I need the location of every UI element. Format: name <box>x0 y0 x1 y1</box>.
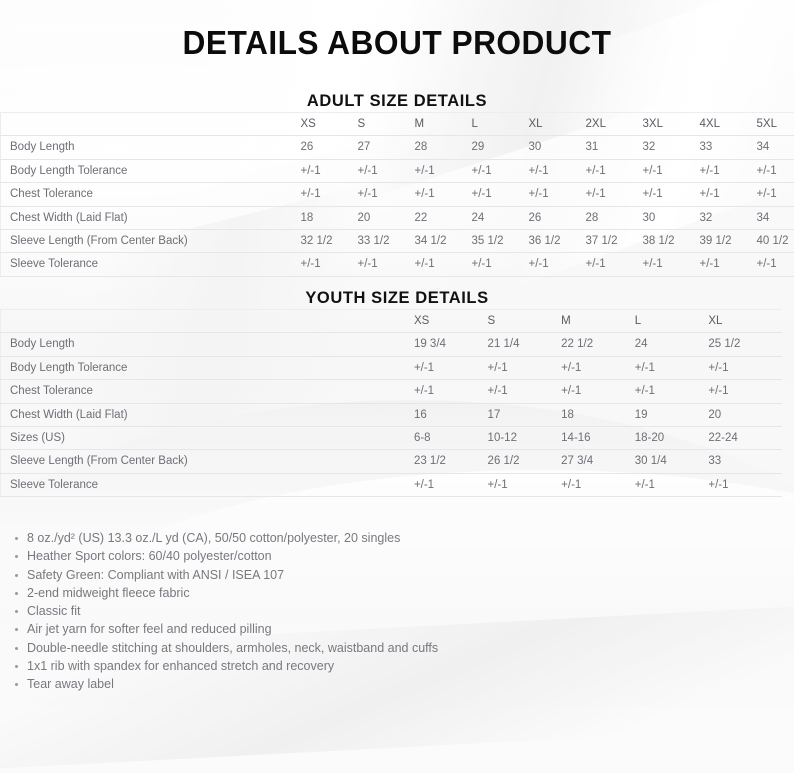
table-cell: 16 <box>414 403 488 426</box>
table-header-row: XSSMLXL2XL3XL4XL5XL <box>1 113 794 136</box>
table-cell: 27 <box>358 136 415 159</box>
row-label: Chest Tolerance <box>1 183 301 206</box>
table-cell: 18 <box>301 206 358 229</box>
column-header-size: 3XL <box>643 113 700 136</box>
table-cell: +/-1 <box>358 159 415 182</box>
table-cell: 24 <box>472 206 529 229</box>
table-row: Chest Tolerance+/-1+/-1+/-1+/-1+/-1+/-1+… <box>1 183 794 206</box>
table-cell: +/-1 <box>488 380 562 403</box>
row-label: Body Length Tolerance <box>1 159 301 182</box>
row-label: Sleeve Length (From Center Back) <box>1 450 414 473</box>
table-cell: 31 <box>586 136 643 159</box>
table-cell: +/-1 <box>757 159 794 182</box>
table-cell: +/-1 <box>301 183 358 206</box>
column-header-size: L <box>635 310 709 333</box>
column-header-size: M <box>561 310 635 333</box>
table-cell: +/-1 <box>643 159 700 182</box>
table-cell: 17 <box>488 403 562 426</box>
table-cell: 26 <box>529 206 586 229</box>
table-cell: +/-1 <box>414 356 488 379</box>
table-cell: 23 1/2 <box>414 450 488 473</box>
table-cell: 30 1/4 <box>635 450 709 473</box>
table-cell: 22 1/2 <box>561 333 635 356</box>
table-cell: +/-1 <box>757 183 794 206</box>
table-cell: 40 1/2 <box>757 230 794 253</box>
table-cell: +/-1 <box>561 356 635 379</box>
table-cell: 14-16 <box>561 427 635 450</box>
table-cell: +/-1 <box>561 473 635 496</box>
table-cell: +/-1 <box>635 356 709 379</box>
column-header-size: 5XL <box>757 113 794 136</box>
row-label: Chest Width (Laid Flat) <box>1 206 301 229</box>
feature-list-item: Air jet yarn for softer feel and reduced… <box>13 620 438 638</box>
table-cell: 33 <box>700 136 757 159</box>
feature-list-item: 8 oz./yd² (US) 13.3 oz./L yd (CA), 50/50… <box>13 529 438 547</box>
feature-list-item: Safety Green: Compliant with ANSI / ISEA… <box>13 566 438 584</box>
table-row: Sizes (US)6-810-1214-1618-2022-24 <box>1 427 783 450</box>
table-cell: +/-1 <box>301 159 358 182</box>
table-cell: 26 <box>301 136 358 159</box>
page-title: DETAILS ABOUT PRODUCT <box>16 24 778 62</box>
table-cell: 33 1/2 <box>358 230 415 253</box>
table-cell: 30 <box>529 136 586 159</box>
row-label: Sleeve Tolerance <box>1 253 301 276</box>
table-cell: +/-1 <box>561 380 635 403</box>
table-row: Sleeve Tolerance+/-1+/-1+/-1+/-1+/-1 <box>1 473 783 496</box>
table-cell: +/-1 <box>700 159 757 182</box>
column-header-size: 4XL <box>700 113 757 136</box>
table-cell: +/-1 <box>488 473 562 496</box>
table-cell: +/-1 <box>415 159 472 182</box>
table-cell: 35 1/2 <box>472 230 529 253</box>
column-header-size: XL <box>708 310 782 333</box>
table-cell: 30 <box>643 206 700 229</box>
table-row: Body Length262728293031323334 <box>1 136 794 159</box>
table-cell: +/-1 <box>472 183 529 206</box>
adult-table-body: Body Length262728293031323334Body Length… <box>1 136 794 276</box>
table-row: Chest Tolerance+/-1+/-1+/-1+/-1+/-1 <box>1 380 783 403</box>
table-cell: 29 <box>472 136 529 159</box>
table-cell: +/-1 <box>529 183 586 206</box>
product-details-page: DETAILS ABOUT PRODUCT ADULT SIZE DETAILS… <box>0 0 794 706</box>
table-cell: 28 <box>586 206 643 229</box>
row-label: Sleeve Length (From Center Back) <box>1 230 301 253</box>
column-header-size: S <box>358 113 415 136</box>
table-row: Sleeve Length (From Center Back)32 1/233… <box>1 230 794 253</box>
table-cell: 6-8 <box>414 427 488 450</box>
table-cell: +/-1 <box>472 159 529 182</box>
row-label: Body Length <box>1 333 414 356</box>
feature-list-item: 1x1 rib with spandex for enhanced stretc… <box>13 657 438 675</box>
column-header-measure <box>1 310 414 333</box>
column-header-size: S <box>488 310 562 333</box>
table-cell: +/-1 <box>586 253 643 276</box>
product-feature-list: 8 oz./yd² (US) 13.3 oz./L yd (CA), 50/50… <box>13 529 438 694</box>
table-cell: 38 1/2 <box>643 230 700 253</box>
table-cell: 34 <box>757 206 794 229</box>
table-cell: +/-1 <box>529 253 586 276</box>
table-cell: +/-1 <box>358 253 415 276</box>
table-cell: 36 1/2 <box>529 230 586 253</box>
table-cell: +/-1 <box>415 183 472 206</box>
column-header-size: L <box>472 113 529 136</box>
table-cell: +/-1 <box>700 253 757 276</box>
table-cell: 18-20 <box>635 427 709 450</box>
table-cell: 27 3/4 <box>561 450 635 473</box>
row-label: Sizes (US) <box>1 427 414 450</box>
table-row: Body Length19 3/421 1/422 1/22425 1/2 <box>1 333 783 356</box>
table-cell: 32 <box>643 136 700 159</box>
table-header-row: XSSMLXL <box>1 310 783 333</box>
table-cell: 21 1/4 <box>488 333 562 356</box>
row-label: Sleeve Tolerance <box>1 473 414 496</box>
youth-size-heading: YOUTH SIZE DETAILS <box>12 288 782 308</box>
table-row: Sleeve Length (From Center Back)23 1/226… <box>1 450 783 473</box>
table-cell: +/-1 <box>414 473 488 496</box>
table-cell: +/-1 <box>708 356 782 379</box>
youth-table-body: Body Length19 3/421 1/422 1/22425 1/2Bod… <box>1 333 783 497</box>
table-cell: 22-24 <box>708 427 782 450</box>
table-cell: +/-1 <box>415 253 472 276</box>
column-header-size: M <box>415 113 472 136</box>
table-cell: +/-1 <box>586 183 643 206</box>
table-cell: +/-1 <box>635 380 709 403</box>
feature-list-item: Classic fit <box>13 602 438 620</box>
table-cell: 10-12 <box>488 427 562 450</box>
row-label: Chest Tolerance <box>1 380 414 403</box>
table-cell: 18 <box>561 403 635 426</box>
table-cell: 28 <box>415 136 472 159</box>
table-cell: 20 <box>708 403 782 426</box>
table-cell: +/-1 <box>757 253 794 276</box>
table-cell: +/-1 <box>472 253 529 276</box>
column-header-measure <box>1 113 301 136</box>
column-header-size: 2XL <box>586 113 643 136</box>
table-cell: +/-1 <box>529 159 586 182</box>
table-cell: 22 <box>415 206 472 229</box>
table-cell: +/-1 <box>643 253 700 276</box>
table-cell: 33 <box>708 450 782 473</box>
table-cell: 32 <box>700 206 757 229</box>
table-cell: +/-1 <box>358 183 415 206</box>
table-cell: 37 1/2 <box>586 230 643 253</box>
feature-list-item: Double-needle stitching at shoulders, ar… <box>13 639 438 657</box>
feature-list-item: Tear away label <box>13 675 438 693</box>
feature-list-item: 2-end midweight fleece fabric <box>13 584 438 602</box>
adult-size-table: XSSMLXL2XL3XL4XL5XL Body Length262728293… <box>0 112 794 277</box>
table-cell: 25 1/2 <box>708 333 782 356</box>
column-header-size: XL <box>529 113 586 136</box>
table-cell: +/-1 <box>488 356 562 379</box>
table-cell: 19 <box>635 403 709 426</box>
table-row: Sleeve Tolerance+/-1+/-1+/-1+/-1+/-1+/-1… <box>1 253 794 276</box>
adult-size-heading: ADULT SIZE DETAILS <box>12 91 782 111</box>
table-cell: +/-1 <box>643 183 700 206</box>
table-cell: 20 <box>358 206 415 229</box>
table-row: Chest Width (Laid Flat)1617181920 <box>1 403 783 426</box>
row-label: Body Length <box>1 136 301 159</box>
youth-size-table: XSSMLXL Body Length19 3/421 1/422 1/2242… <box>0 309 782 497</box>
table-row: Body Length Tolerance+/-1+/-1+/-1+/-1+/-… <box>1 356 783 379</box>
row-label: Body Length Tolerance <box>1 356 414 379</box>
row-label: Chest Width (Laid Flat) <box>1 403 414 426</box>
table-cell: 39 1/2 <box>700 230 757 253</box>
table-cell: 19 3/4 <box>414 333 488 356</box>
table-cell: +/-1 <box>586 159 643 182</box>
table-cell: +/-1 <box>700 183 757 206</box>
column-header-size: XS <box>301 113 358 136</box>
table-cell: 34 <box>757 136 794 159</box>
column-header-size: XS <box>414 310 488 333</box>
table-cell: +/-1 <box>635 473 709 496</box>
table-cell: +/-1 <box>301 253 358 276</box>
table-cell: 24 <box>635 333 709 356</box>
table-cell: +/-1 <box>708 380 782 403</box>
table-cell: +/-1 <box>414 380 488 403</box>
table-cell: 34 1/2 <box>415 230 472 253</box>
table-row: Chest Width (Laid Flat)18202224262830323… <box>1 206 794 229</box>
table-cell: 32 1/2 <box>301 230 358 253</box>
feature-list-item: Heather Sport colors: 60/40 polyester/co… <box>13 547 438 565</box>
table-cell: +/-1 <box>708 473 782 496</box>
table-cell: 26 1/2 <box>488 450 562 473</box>
table-row: Body Length Tolerance+/-1+/-1+/-1+/-1+/-… <box>1 159 794 182</box>
